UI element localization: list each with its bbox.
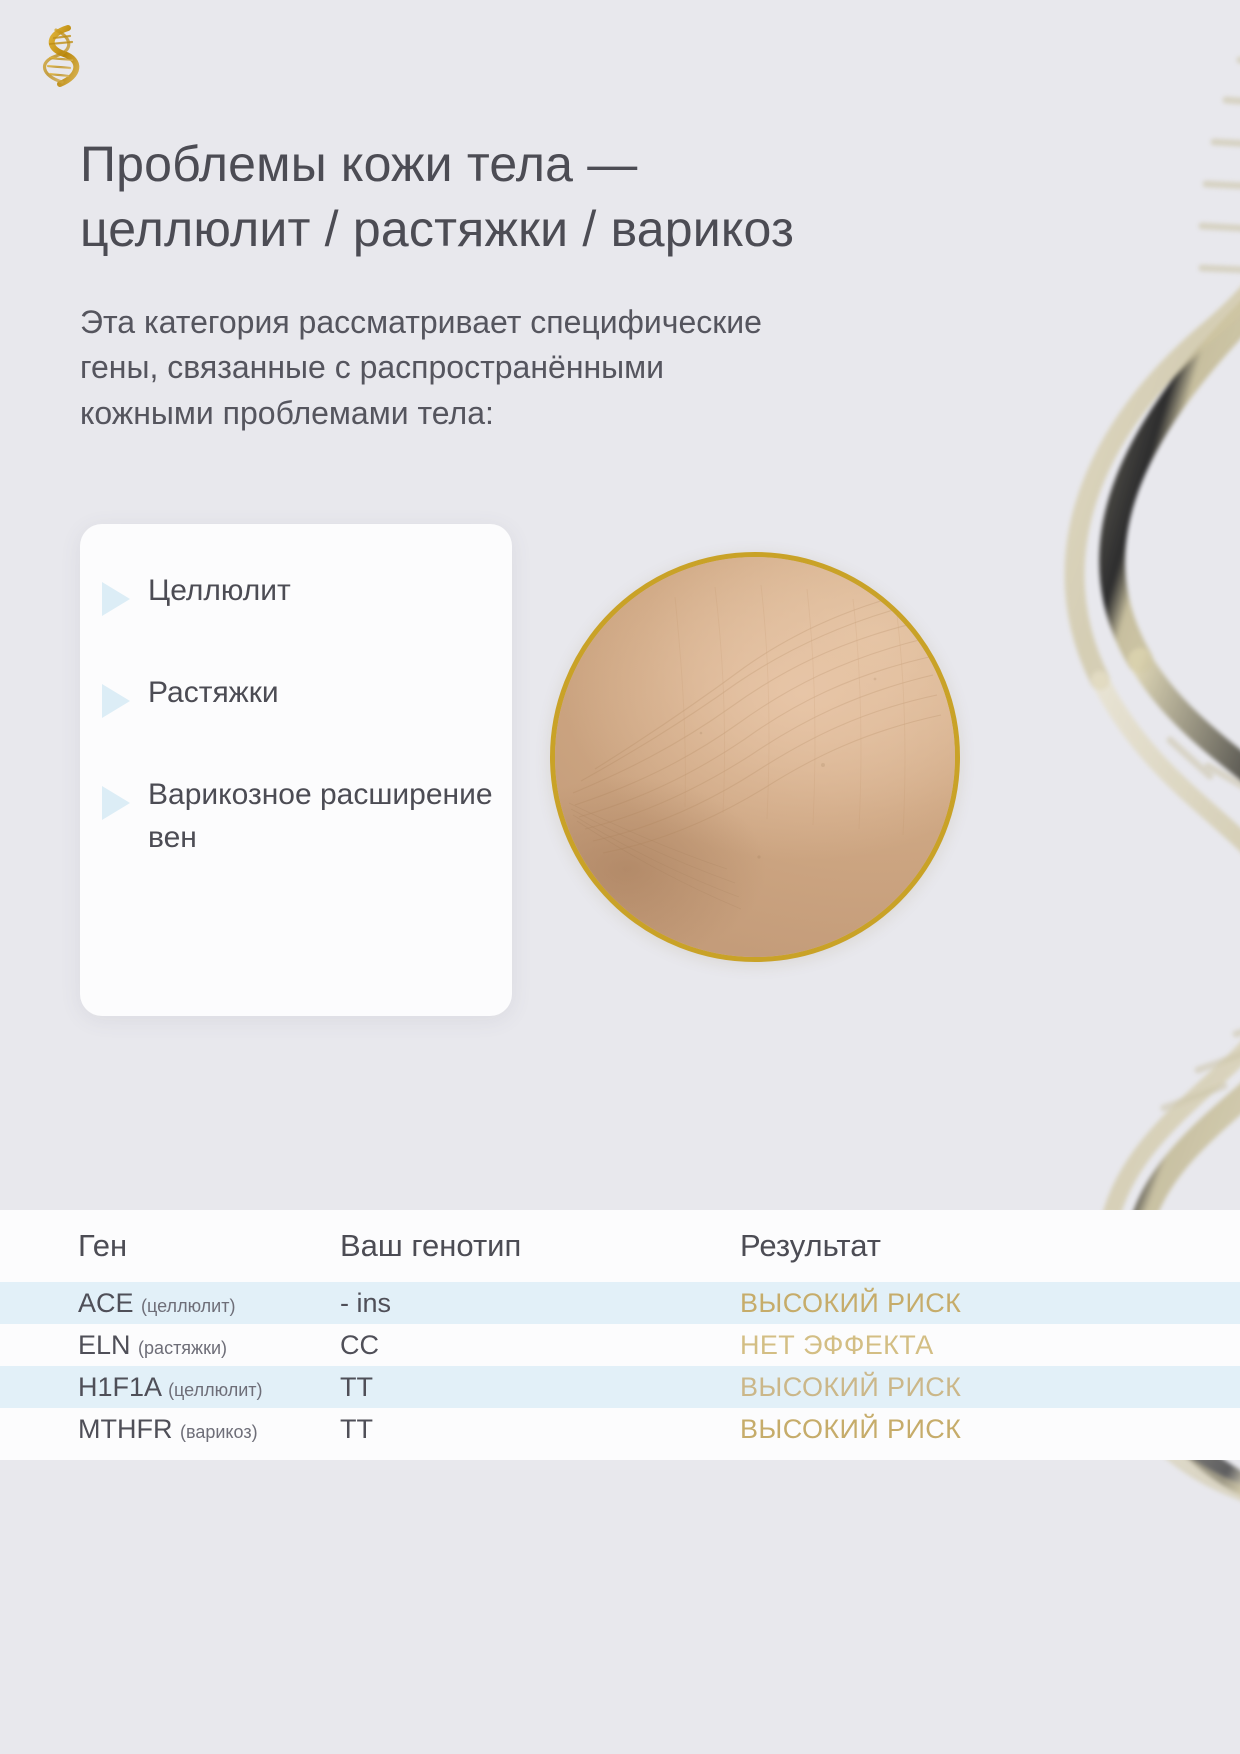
list-item: Растяжки (102, 672, 494, 718)
gene-trait: (растяжки) (138, 1338, 227, 1358)
table-row: MTHFR (варикоз) TT ВЫСОКИЙ РИСК (0, 1408, 1240, 1450)
cell-gene: ELN (растяжки) (0, 1330, 340, 1361)
gene-trait: (целлюлит) (168, 1380, 262, 1400)
conditions-list: Целлюлит Растяжки Варикозное расширение … (102, 570, 494, 859)
table-row: ACE (целлюлит) - ins ВЫСОКИЙ РИСК (0, 1282, 1240, 1324)
cell-gene: ACE (целлюлит) (0, 1288, 340, 1319)
cell-genotype: TT (340, 1372, 740, 1403)
table-row: H1F1A (целлюлит) TT ВЫСОКИЙ РИСК (0, 1366, 1240, 1408)
column-header-result: Результат (740, 1228, 1240, 1264)
conditions-card: Целлюлит Растяжки Варикозное расширение … (80, 524, 512, 1016)
cell-genotype: - ins (340, 1288, 740, 1319)
skin-texture-lines (555, 557, 955, 957)
cell-genotype: TT (340, 1414, 740, 1445)
column-header-genotype: Ваш генотип (340, 1228, 740, 1264)
cell-result: ВЫСОКИЙ РИСК (740, 1414, 1240, 1445)
gene-trait: (варикоз) (180, 1422, 258, 1442)
table-header-row: Ген Ваш генотип Результат (0, 1210, 1240, 1282)
list-item-label: Варикозное расширение вен (148, 774, 494, 859)
cell-result: ВЫСОКИЙ РИСК (740, 1372, 1240, 1403)
page-subtitle: Эта категория рассматривает специфически… (80, 300, 800, 436)
genotype-results-table: Ген Ваш генотип Результат ACE (целлюлит)… (0, 1210, 1240, 1460)
list-item-label: Целлюлит (148, 570, 291, 613)
list-item: Варикозное расширение вен (102, 774, 494, 859)
triangle-bullet-icon (102, 786, 130, 820)
gene-trait: (целлюлит) (141, 1296, 235, 1316)
gene-symbol: MTHFR (78, 1414, 172, 1444)
cellulite-skin-photo (550, 552, 960, 962)
page-title-line-2: целлюлит / растяжки / варикоз (80, 201, 794, 257)
table-row: ELN (растяжки) CC НЕТ ЭФФЕКТА (0, 1324, 1240, 1366)
column-header-gene: Ген (0, 1228, 340, 1264)
list-item: Целлюлит (102, 570, 494, 616)
triangle-bullet-icon (102, 684, 130, 718)
cell-gene: MTHFR (варикоз) (0, 1414, 340, 1445)
triangle-bullet-icon (102, 582, 130, 616)
page-title: Проблемы кожи тела — целлюлит / растяжки… (80, 132, 950, 262)
cell-result: ВЫСОКИЙ РИСК (740, 1288, 1240, 1319)
dna-helix-logo (30, 20, 92, 92)
list-item-label: Растяжки (148, 672, 279, 715)
cell-result: НЕТ ЭФФЕКТА (740, 1330, 1240, 1361)
cell-genotype: CC (340, 1330, 740, 1361)
gene-symbol: H1F1A (78, 1372, 161, 1402)
page-title-line-1: Проблемы кожи тела — (80, 136, 637, 192)
gene-symbol: ELN (78, 1330, 131, 1360)
cell-gene: H1F1A (целлюлит) (0, 1372, 340, 1403)
gene-symbol: ACE (78, 1288, 134, 1318)
